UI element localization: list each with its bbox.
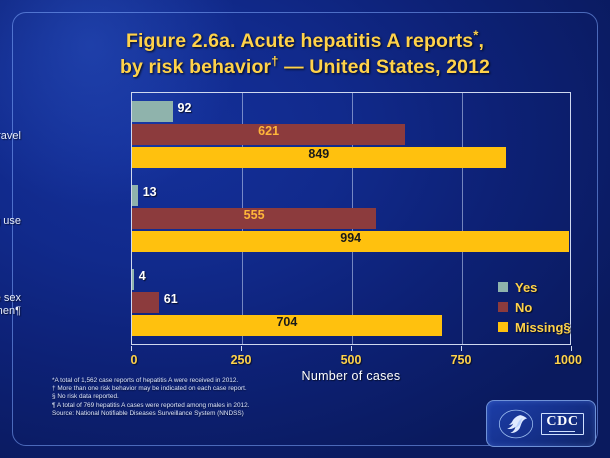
footnotes: *A total of 1,562 case reports of hepati… — [52, 377, 352, 418]
bar-row-no: 555 — [132, 208, 570, 229]
xaxis-tick-1000 — [571, 346, 572, 351]
category-label-line1: Men who have sex — [0, 292, 21, 305]
bar-value-label: 849 — [308, 147, 329, 161]
cdc-logo[interactable]: CDC — [486, 400, 596, 447]
bar-no[interactable]: 621 — [132, 124, 405, 145]
bar-value-label: 92 — [178, 101, 192, 115]
bar-row-yes: 13 — [132, 185, 570, 206]
xaxis-label-500: 500 — [341, 353, 362, 367]
category-label-international-travel: International Travel — [0, 130, 21, 143]
bar-no[interactable]: 555 — [132, 208, 376, 229]
bar-missing[interactable]: 704 — [132, 315, 442, 336]
bar-group-international-travel: 92 621 849 — [132, 97, 570, 173]
bar-value-label: 555 — [244, 208, 265, 222]
bar-value-label: 704 — [276, 315, 297, 329]
bar-value-label: 61 — [164, 292, 178, 306]
bar-no[interactable]: 61 — [132, 292, 159, 313]
xaxis-label-750: 750 — [451, 353, 472, 367]
bar-row-yes: 92 — [132, 101, 570, 122]
cdc-underline — [549, 431, 575, 432]
title-line2: by risk behavior† — United States, 2012 — [40, 54, 570, 80]
bar-yes[interactable]: 4 — [132, 269, 134, 290]
xaxis-tick-500 — [351, 346, 352, 351]
title-line1-tail: , — [479, 30, 485, 52]
category-label-men-who-have-sex-with-men: Men who have sex with men¶ — [0, 292, 21, 318]
xaxis-label-250: 250 — [231, 353, 252, 367]
xaxis-label-1000: 1000 — [554, 353, 582, 367]
footnote-source: Source: National Notifiable Diseases Sur… — [52, 410, 352, 418]
hhs-bird-emblem-icon — [498, 409, 534, 439]
xaxis-tick-750 — [461, 346, 462, 351]
chart-legend: Yes No Missing§ — [498, 277, 571, 337]
footnote-pilcrow: ¶ A total of 769 hepatitis A cases were … — [52, 402, 352, 410]
legend-item-missing[interactable]: Missing§ — [498, 317, 571, 337]
legend-swatch-yes-icon — [498, 282, 508, 292]
title-line1-text: Figure 2.6a. Acute hepatitis A reports — [126, 30, 473, 52]
footnote-section: § No risk data reported. — [52, 393, 352, 401]
cdc-wordmark: CDC — [541, 413, 583, 435]
bar-row-missing: 849 — [132, 147, 570, 168]
bar-value-label: 994 — [340, 231, 361, 245]
bar-yes[interactable]: 13 — [132, 185, 138, 206]
title-dagger-marker: † — [271, 54, 278, 69]
page-title: Figure 2.6a. Acute hepatitis A reports*,… — [40, 28, 570, 80]
bar-missing[interactable]: 994 — [132, 231, 569, 252]
legend-swatch-missing-icon — [498, 322, 508, 332]
cdc-text: CDC — [546, 415, 578, 429]
legend-label-missing: Missing§ — [515, 320, 571, 335]
bar-value-label: 13 — [143, 185, 157, 199]
category-label-line2: with men¶ — [0, 305, 21, 318]
bar-row-missing: 994 — [132, 231, 570, 252]
title-line2-text: by risk behavior — [120, 56, 271, 78]
bar-value-label: 621 — [258, 124, 279, 138]
legend-label-yes: Yes — [515, 280, 537, 295]
xaxis-label-0: 0 — [131, 353, 138, 367]
category-label-line1: International Travel — [0, 130, 21, 143]
category-label-line1: Injection-drug use — [0, 215, 21, 228]
xaxis-tick-0 — [131, 346, 132, 351]
bar-value-label: 4 — [139, 269, 146, 283]
bar-yes[interactable]: 92 — [132, 101, 173, 122]
legend-item-yes[interactable]: Yes — [498, 277, 571, 297]
bar-missing[interactable]: 849 — [132, 147, 506, 168]
slide-canvas: Figure 2.6a. Acute hepatitis A reports*,… — [0, 0, 610, 458]
footnote-asterisk: *A total of 1,562 case reports of hepati… — [52, 377, 352, 385]
bar-row-no: 621 — [132, 124, 570, 145]
legend-label-no: No — [515, 300, 532, 315]
legend-swatch-no-icon — [498, 302, 508, 312]
bar-group-injection-drug-use: 13 555 994 — [132, 180, 570, 256]
title-line2-tail: — United States, 2012 — [279, 56, 490, 78]
category-label-injection-drug-use: Injection-drug use — [0, 215, 21, 228]
xaxis-tick-250 — [241, 346, 242, 351]
legend-item-no[interactable]: No — [498, 297, 571, 317]
